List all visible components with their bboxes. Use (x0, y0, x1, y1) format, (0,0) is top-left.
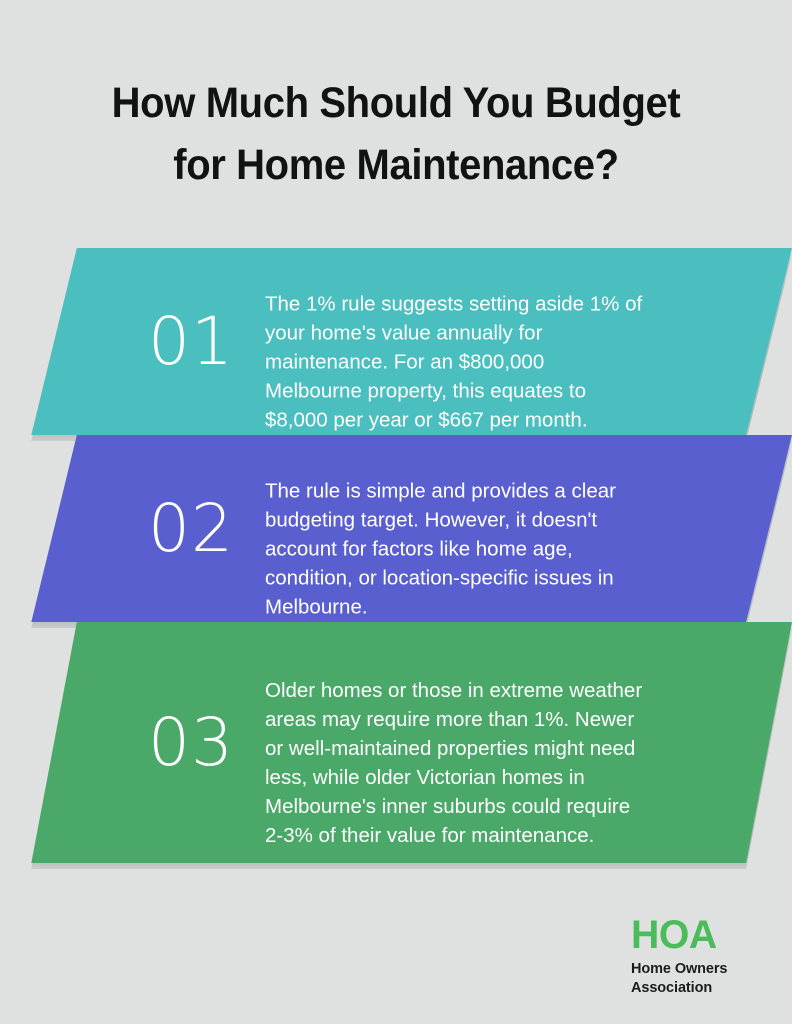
logo-subtitle-line-1: Home Owners (631, 960, 771, 979)
step-number-01: 01 (148, 309, 234, 375)
step-number-03: 03 (148, 710, 234, 776)
infographic-page: { "page": { "background_color": "#dfe1e0… (0, 0, 792, 1024)
page-title-line-1: How Much Should You Budget (28, 72, 765, 134)
step-text-02: The rule is simple and provides a clear … (265, 477, 643, 622)
step-number-02: 02 (148, 496, 234, 562)
step-text-01: The 1% rule suggests setting aside 1% of… (265, 290, 643, 435)
step-band-03: 03 Older homes or those in extreme weath… (0, 622, 792, 863)
logo-wordmark: HOA (631, 918, 768, 952)
step-band-list: 01 The 1% rule suggests setting aside 1%… (0, 248, 792, 863)
step-band-wrapper-2: 02 The rule is simple and provides a cle… (0, 435, 792, 622)
hoa-logo: HOA Home Owners Association (631, 918, 771, 998)
step-band-wrapper-3: 03 Older homes or those in extreme weath… (0, 622, 792, 863)
step-text-03: Older homes or those in extreme weather … (265, 676, 643, 850)
logo-subtitle-line-2: Association (631, 979, 771, 998)
step-band-02: 02 The rule is simple and provides a cle… (0, 435, 792, 622)
step-band-wrapper-1: 01 The 1% rule suggests setting aside 1%… (0, 248, 792, 435)
page-title: How Much Should You Budget for Home Main… (0, 72, 792, 196)
step-band-01: 01 The 1% rule suggests setting aside 1%… (0, 248, 792, 435)
page-title-line-2: for Home Maintenance? (28, 134, 765, 196)
